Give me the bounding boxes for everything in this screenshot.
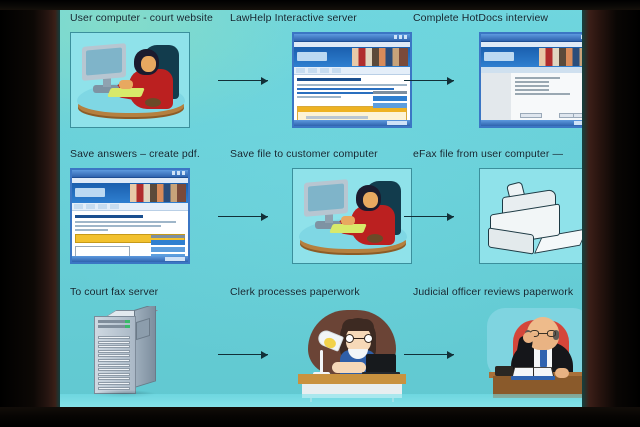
step-save-file-to-customer-computer[interactable]: Save file to customer computer xyxy=(220,144,400,279)
step-save-answers-create-pdf[interactable]: Save answers – create pdf. xyxy=(52,144,214,279)
screen-bezel-bottom xyxy=(0,407,640,427)
browser-window-hotdocs-screenshot xyxy=(479,32,592,128)
step-lawhelp-interactive-server[interactable]: LawHelp Interactive server xyxy=(220,8,400,143)
person-at-computer-icon xyxy=(70,32,190,128)
judge-at-desk-icon xyxy=(479,306,592,402)
step-caption: Save file to customer computer xyxy=(230,148,430,160)
screen-bezel-left xyxy=(0,0,60,427)
step-user-computer-court-website[interactable]: User computer - court website xyxy=(52,8,214,143)
projected-slide-photo: User computer - court website xyxy=(0,0,640,427)
clerk-at-desk-icon xyxy=(292,306,412,402)
workflow-row-3: To court fax server xyxy=(52,282,592,412)
step-caption: Clerk processes paperwork xyxy=(230,286,430,298)
workflow-diagram: User computer - court website xyxy=(52,6,592,412)
server-tower-icon xyxy=(70,306,190,402)
step-caption: eFax file from user computer — xyxy=(413,148,592,160)
step-efax-file-from-user-computer[interactable]: eFax file from user computer — xyxy=(407,144,587,279)
step-caption: Complete HotDocs interview xyxy=(413,12,592,24)
step-to-court-fax-server[interactable]: To court fax server xyxy=(52,282,214,412)
person-at-computer-icon xyxy=(292,168,412,264)
step-clerk-processes-paperwork[interactable]: Clerk processes paperwork xyxy=(220,282,400,412)
workflow-row-1: User computer - court website xyxy=(52,8,592,143)
step-caption: Judicial officer reviews paperwork xyxy=(413,286,592,298)
printer-fax-icon xyxy=(479,168,592,264)
presentation-slide: User computer - court website xyxy=(52,6,592,412)
browser-window-save-answers-screenshot xyxy=(70,168,190,264)
step-caption: LawHelp Interactive server xyxy=(230,12,430,24)
browser-window-lawhelp-screenshot xyxy=(292,32,412,128)
workflow-row-2: Save answers – create pdf. xyxy=(52,144,592,279)
screen-bezel-top xyxy=(0,0,640,10)
step-judicial-officer-reviews-paperwork[interactable]: Judicial officer reviews paperwork xyxy=(407,282,587,412)
step-complete-hotdocs-interview[interactable]: Complete HotDocs interview xyxy=(407,8,587,143)
screen-bezel-right xyxy=(582,0,640,427)
